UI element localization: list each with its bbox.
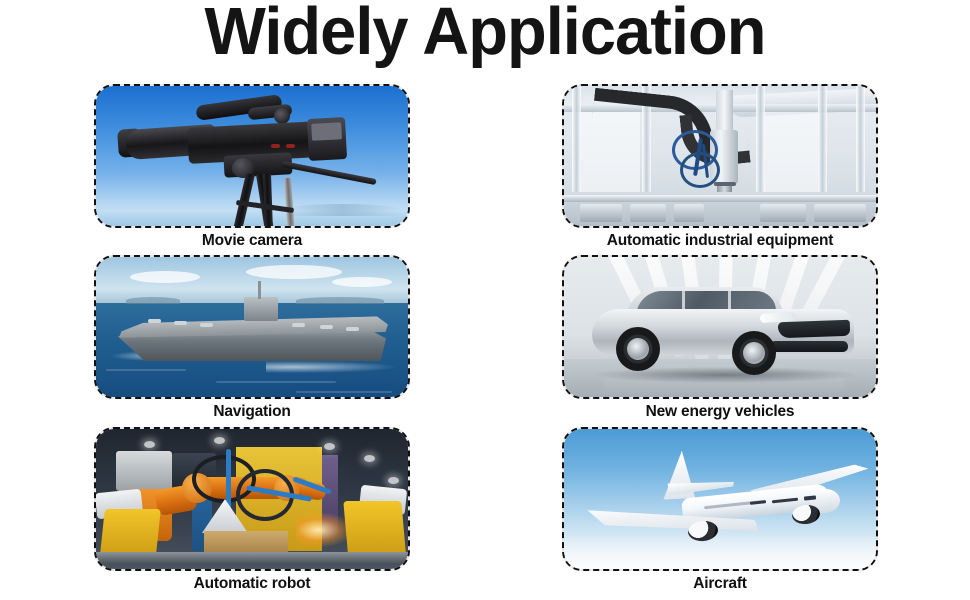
- tripod-pan-handle: [281, 161, 376, 185]
- page-title: Widely Application: [15, 0, 956, 70]
- application-card-navigation[interactable]: Navigation: [94, 255, 410, 421]
- deck-aircraft-4: [292, 323, 305, 327]
- camera-viewfinder: [274, 108, 290, 124]
- image-frame-aircraft: [562, 427, 878, 571]
- distant-land-1: [126, 297, 180, 304]
- cloud-2: [246, 265, 342, 279]
- image-frame-movie-camera: [94, 84, 410, 228]
- deck-aircraft-1: [148, 319, 161, 323]
- conveyor-rail: [564, 195, 876, 202]
- wave-3: [296, 391, 392, 393]
- industrial-equipment-illustration: [564, 86, 876, 226]
- cloud-3: [332, 277, 392, 287]
- glass-panel-right: [760, 112, 818, 204]
- aircraft-illustration: [564, 429, 876, 569]
- image-frame-navigation: [94, 255, 410, 399]
- carrier-island-superstructure: [244, 297, 278, 321]
- application-card-automatic-robot[interactable]: Automatic robot: [94, 427, 410, 593]
- electric-vehicle-illustration: [564, 257, 876, 397]
- ceiling-lamp-3: [324, 443, 335, 450]
- application-card-new-energy-vehicles[interactable]: New energy vehicles: [562, 255, 878, 421]
- distant-land-2: [296, 297, 384, 304]
- camera-monitor-screen: [311, 122, 342, 141]
- wave-1: [106, 369, 186, 371]
- camera-record-button-2: [286, 144, 295, 148]
- floor-module-5: [814, 204, 866, 222]
- conveyor-track: [96, 552, 408, 563]
- image-frame-automatic-industrial-equipment: [562, 84, 878, 228]
- car-rear-wheel: [616, 327, 660, 371]
- floor-module-4: [760, 204, 806, 222]
- horizon-haze: [564, 535, 876, 569]
- caption-navigation: Navigation: [94, 403, 410, 421]
- application-card-movie-camera[interactable]: Movie camera: [94, 84, 410, 250]
- automatic-robot-illustration: [96, 429, 408, 569]
- wooden-pallet: [204, 531, 288, 553]
- ceiling-lamp-2: [214, 437, 225, 444]
- distant-hills: [282, 204, 402, 216]
- car-lower-air-intake: [770, 341, 848, 352]
- image-frame-automatic-robot: [94, 427, 410, 571]
- welding-spark-glow: [296, 513, 352, 547]
- ceiling-lamp-4: [364, 455, 375, 462]
- caption-movie-camera: Movie camera: [94, 232, 410, 250]
- caption-new-energy-vehicles: New energy vehicles: [562, 403, 878, 421]
- ceiling-lamp-1: [144, 441, 155, 448]
- caption-automatic-robot: Automatic robot: [94, 575, 410, 593]
- movie-camera-illustration: [96, 86, 408, 226]
- tripod-leg-right: [263, 174, 273, 226]
- wave-2: [216, 381, 336, 383]
- deck-aircraft-5: [320, 325, 333, 329]
- ship-wake: [266, 361, 396, 373]
- application-grid: Movie camera: [94, 84, 878, 600]
- floor-module-1: [580, 204, 622, 222]
- application-card-automatic-industrial-equipment[interactable]: Automatic industrial equipment: [562, 84, 878, 250]
- car-front-rim: [743, 342, 765, 364]
- robot-controller-cabinet: [116, 451, 172, 491]
- application-card-aircraft[interactable]: Aircraft: [562, 427, 878, 593]
- wire-3: [714, 182, 736, 186]
- camera-monitor: [307, 117, 347, 161]
- deck-aircraft-2: [174, 321, 187, 325]
- ceiling-lamp-5: [388, 477, 399, 484]
- caption-automatic-industrial-equipment: Automatic industrial equipment: [562, 232, 878, 250]
- floor-module-3: [674, 204, 704, 222]
- caption-aircraft: Aircraft: [562, 575, 878, 593]
- floor-module-2: [630, 204, 666, 222]
- deck-aircraft-3: [200, 323, 213, 327]
- car-rear-rim: [627, 338, 649, 360]
- deck-aircraft-6: [346, 327, 359, 331]
- car-front-grille: [778, 320, 851, 339]
- camera-record-button: [271, 144, 280, 148]
- car-front-wheel: [732, 331, 776, 375]
- image-frame-new-energy-vehicles: [562, 255, 878, 399]
- navigation-illustration: [96, 257, 408, 397]
- carrier-mast: [258, 281, 261, 299]
- cloud-1: [130, 271, 200, 283]
